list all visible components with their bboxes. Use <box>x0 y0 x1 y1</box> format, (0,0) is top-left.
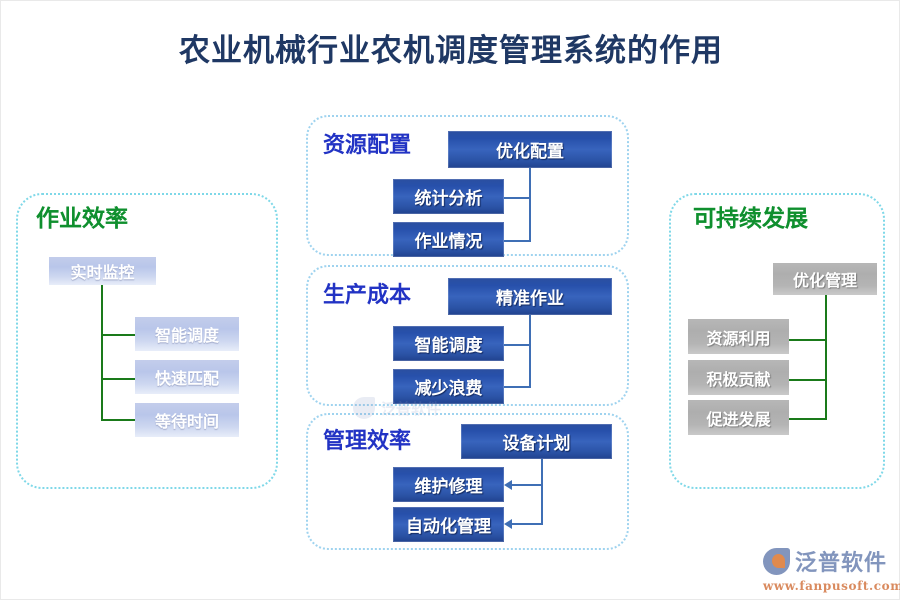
mid-1-child-box-2[interactable]: 作业情况 <box>393 222 504 257</box>
mid-1-connector-trunk <box>529 168 531 241</box>
panel-left-heading: 作业效率 <box>36 199 128 233</box>
fanpu-logo-icon <box>763 548 790 575</box>
right-connector-trunk <box>825 295 827 419</box>
right-connector-branch-3 <box>789 418 827 420</box>
mid-3-arrow-icon-1 <box>504 480 512 490</box>
right-root-box[interactable]: 优化管理 <box>773 263 877 295</box>
mid-2-connector-trunk <box>529 315 531 387</box>
panel-mid-2-heading: 生产成本 <box>323 277 411 309</box>
brand-name: 泛普软件 <box>795 545 887 577</box>
right-connector-branch-2 <box>789 379 827 381</box>
mid-3-root-box[interactable]: 设备计划 <box>461 424 612 459</box>
mid-2-child-box-2[interactable]: 减少浪费 <box>393 369 504 404</box>
mid-3-arrow-icon-2 <box>504 519 512 529</box>
mid-3-child-box-1[interactable]: 维护修理 <box>393 467 504 502</box>
mid-3-child-box-2[interactable]: 自动化管理 <box>393 507 504 542</box>
mid-1-connector-branch-2 <box>504 240 531 242</box>
mid-2-connector-branch-2 <box>504 386 531 388</box>
left-child-box-1[interactable]: 智能调度 <box>135 317 239 351</box>
right-connector-branch-1 <box>789 339 827 341</box>
mid-3-connector-trunk <box>541 459 543 525</box>
mid-3-connector-branch-2 <box>512 523 542 525</box>
brand-logo-row: 泛普软件 <box>763 545 891 577</box>
left-connector-branch-1 <box>101 334 137 336</box>
left-connector-trunk <box>101 285 103 420</box>
right-child-box-1[interactable]: 资源利用 <box>688 319 789 354</box>
infographic-canvas: 农业机械行业农机调度管理系统的作用 作业效率 实时监控 智能调度 快速匹配 等待… <box>0 0 900 600</box>
left-root-box[interactable]: 实时监控 <box>49 257 156 285</box>
left-child-box-2[interactable]: 快速匹配 <box>135 360 239 394</box>
panel-mid-1-heading: 资源配置 <box>323 127 411 159</box>
mid-2-root-box[interactable]: 精准作业 <box>448 278 612 315</box>
mid-2-child-box-1[interactable]: 智能调度 <box>393 326 504 361</box>
left-child-box-3[interactable]: 等待时间 <box>135 403 239 437</box>
panel-right-heading: 可持续发展 <box>693 199 808 233</box>
brand-url: www.fanpusoft.com <box>763 579 891 593</box>
mid-1-connector-branch-1 <box>504 197 531 199</box>
mid-3-connector-branch-1 <box>512 484 542 486</box>
left-connector-branch-3 <box>101 419 137 421</box>
mid-1-child-box-1[interactable]: 统计分析 <box>393 179 504 214</box>
mid-1-root-box[interactable]: 优化配置 <box>448 131 612 168</box>
page-title: 农业机械行业农机调度管理系统的作用 <box>1 25 900 70</box>
panel-mid-3-heading: 管理效率 <box>323 423 411 455</box>
mid-2-connector-branch-1 <box>504 344 531 346</box>
right-child-box-3[interactable]: 促进发展 <box>688 400 789 435</box>
left-connector-branch-2 <box>101 378 137 380</box>
right-child-box-2[interactable]: 积极贡献 <box>688 360 789 395</box>
brand-logo: 泛普软件 www.fanpusoft.com <box>763 545 891 591</box>
